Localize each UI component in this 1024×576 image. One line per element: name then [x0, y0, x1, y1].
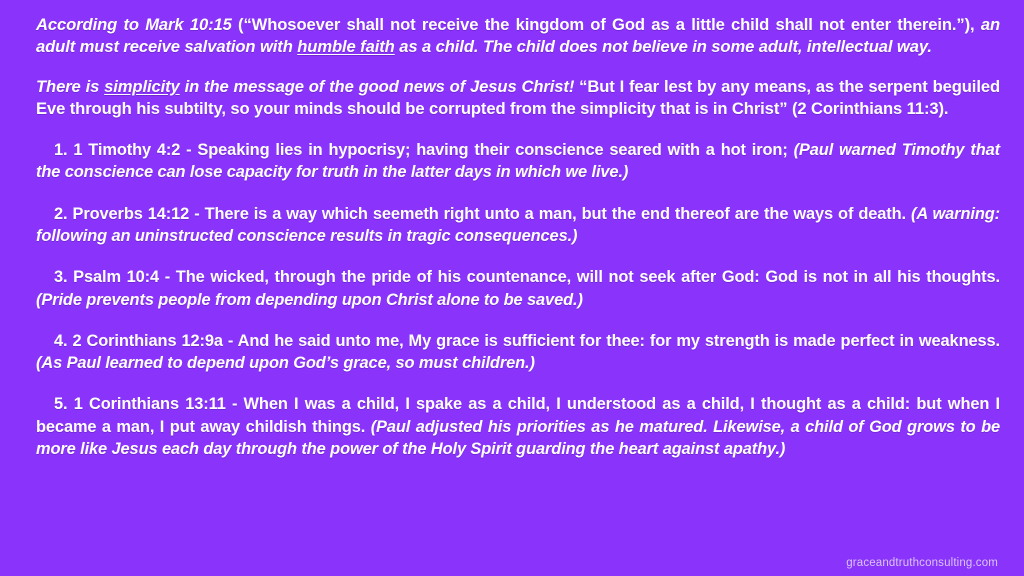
list-item-number: 5. — [54, 395, 67, 413]
list-item-verse: - Speaking lies in hypocrisy; having the… — [180, 141, 793, 159]
list-item: 5. 1 Corinthians 13:11 - When I was a ch… — [36, 393, 1000, 460]
list-item: 4. 2 Corinthians 12:9a - And he said unt… — [36, 330, 1000, 375]
list-item: 2. Proverbs 14:12 - There is a way which… — [36, 203, 1000, 248]
list-item-number: 3. — [54, 268, 67, 286]
list-item: 3. Psalm 10:4 - The wicked, through the … — [36, 266, 1000, 311]
footer-watermark: graceandtruthconsulting.com — [846, 557, 998, 569]
list-item-reference-text: Proverbs 14:12 — [73, 205, 190, 223]
mark-citation: According to Mark 10:15 — [36, 15, 232, 34]
list-item-number: 4. — [54, 332, 67, 350]
list-item-reference-text: 1 Timothy 4:2 — [73, 141, 180, 159]
paragraph-mark-reference: According to Mark 10:15 (“Whosoever shal… — [36, 14, 1000, 59]
good-news-text: in the message of the good news of Jesus… — [180, 77, 575, 96]
humble-faith-emphasis: humble faith — [297, 37, 394, 56]
list-item-comment: (Pride prevents people from depending up… — [36, 291, 583, 309]
list-item-reference-text: Psalm 10:4 — [73, 268, 159, 286]
child-belief-text: as a child. The child does not believe i… — [395, 37, 932, 56]
list-item-reference-text: 1 Corinthians 13:11 — [74, 395, 226, 413]
simplicity-emphasis: simplicity — [104, 77, 180, 96]
list-item-verse: - The wicked, through the pride of his c… — [159, 268, 1000, 286]
paragraph-simplicity-reference: There is simplicity in the message of th… — [36, 76, 1000, 121]
there-is-lead: There is — [36, 77, 104, 96]
list-item: 1. 1 Timothy 4:2 - Speaking lies in hypo… — [36, 139, 1000, 184]
slide-canvas: According to Mark 10:15 (“Whosoever shal… — [0, 0, 1024, 576]
list-item-number: 1. — [54, 141, 67, 159]
scripture-list: 1. 1 Timothy 4:2 - Speaking lies in hypo… — [36, 139, 1000, 460]
list-item-verse: - There is a way which seemeth right unt… — [189, 205, 911, 223]
list-item-comment: (As Paul learned to depend upon God’s gr… — [36, 354, 535, 372]
list-item-reference-text: 2 Corinthians 12:9a — [72, 332, 222, 350]
mark-quotation: (“Whosoever shall not receive the kingdo… — [232, 15, 981, 34]
list-item-number: 2. — [54, 205, 67, 223]
list-item-verse: - And he said unto me, My grace is suffi… — [223, 332, 1000, 350]
